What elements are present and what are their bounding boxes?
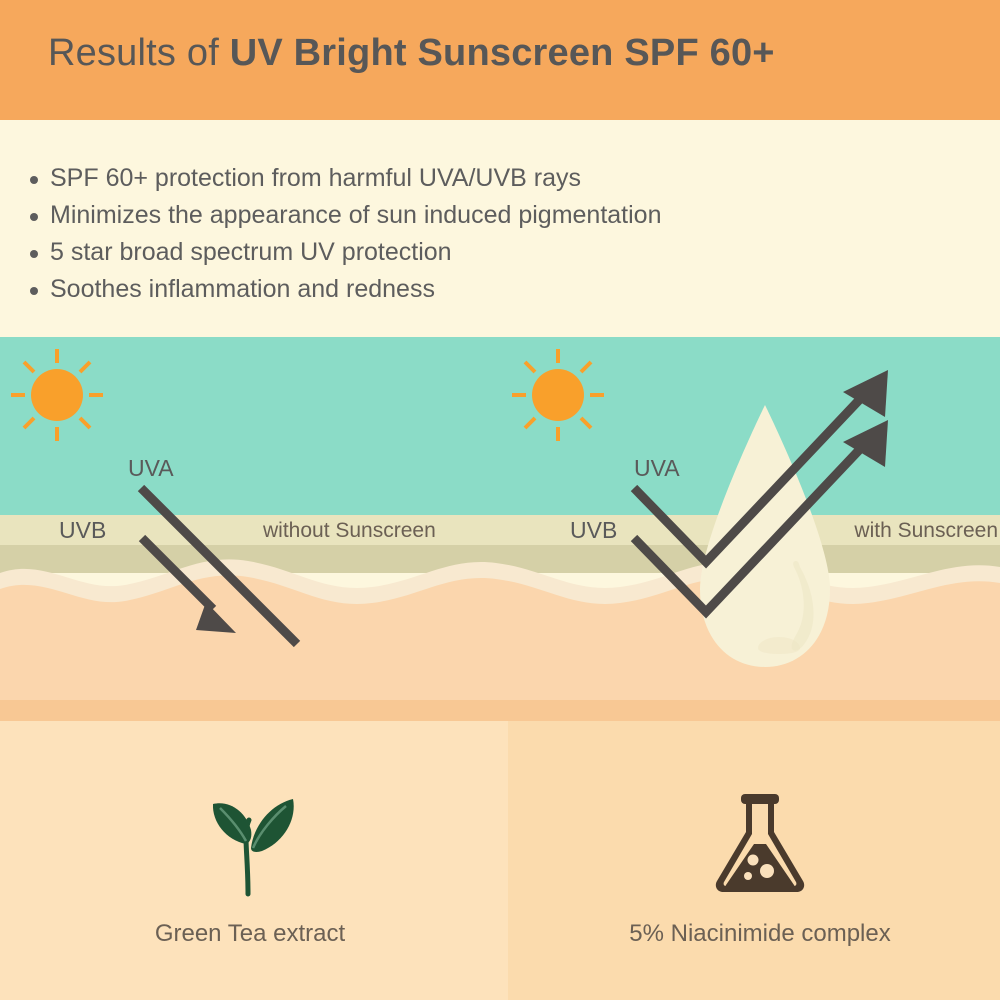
page-title: Results of UV Bright Sunscreen SPF 60+ (48, 32, 775, 75)
caption-without-sunscreen: without Sunscreen (263, 519, 436, 543)
infographic-page: Results of UV Bright Sunscreen SPF 60+ S… (0, 0, 1000, 1000)
list-item: 5 star broad spectrum UV protection (28, 234, 662, 271)
ingredients-section: Green Tea extract 5% Niacinimide complex (0, 700, 1000, 1000)
uva-label-left: UVA (128, 455, 174, 482)
ingredient-niacinimide: 5% Niacinimide complex (600, 780, 920, 948)
page-title-bold: UV Bright Sunscreen SPF 60+ (230, 32, 775, 74)
list-item: Soothes inflammation and redness (28, 271, 662, 308)
ingredient-green-tea: Green Tea extract (90, 780, 410, 948)
uvb-label-left: UVB (59, 517, 106, 544)
list-item: SPF 60+ protection from harmful UVA/UVB … (28, 160, 662, 197)
ingredient-label: 5% Niacinimide complex (600, 920, 920, 948)
uva-label-right: UVA (634, 455, 680, 482)
section-divider (0, 700, 1000, 721)
list-item: Minimizes the appearance of sun induced … (28, 197, 662, 234)
header-banner: Results of UV Bright Sunscreen SPF 60+ (0, 0, 1000, 120)
uv-comparison-illustration (0, 337, 1000, 700)
benefits-section: SPF 60+ protection from harmful UVA/UVB … (0, 120, 1000, 337)
flask-icon (600, 780, 920, 898)
ingredient-label: Green Tea extract (90, 920, 410, 948)
leaf-sprout-icon (90, 780, 410, 898)
sun-icon (512, 349, 604, 441)
caption-with-sunscreen: with Sunscreen (854, 519, 998, 543)
sun-icon (11, 349, 103, 441)
sky-background (0, 337, 1000, 515)
benefits-list: SPF 60+ protection from harmful UVA/UVB … (28, 160, 662, 308)
uvb-label-right: UVB (570, 517, 617, 544)
page-title-regular: Results of (48, 32, 230, 74)
